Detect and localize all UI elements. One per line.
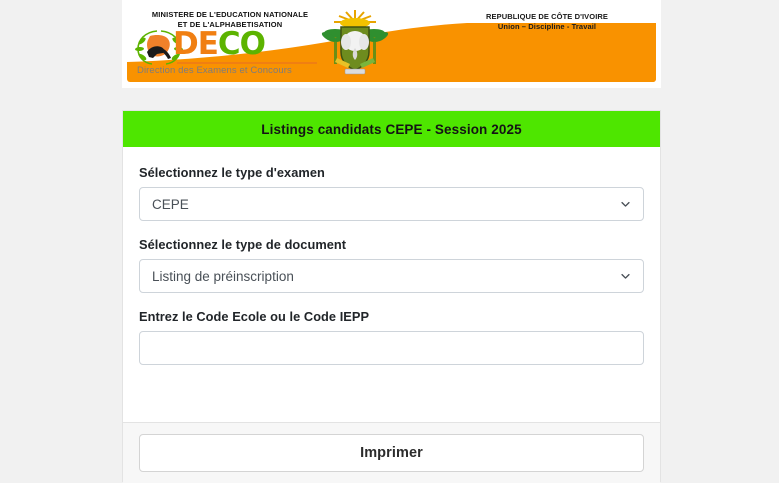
deco-acronym-co: CO <box>218 26 265 62</box>
header-banner-image: MINISTERE DE L'EDUCATION NATIONALE ET DE… <box>127 6 656 82</box>
listing-card: Listings candidats CEPE - Session 2025 S… <box>122 110 661 482</box>
deco-tagline: Direction des Examens et Concours <box>137 65 292 76</box>
republic-motto-line1: REPUBLIQUE DE CÔTE D'IVOIRE <box>452 12 642 22</box>
code-input[interactable] <box>139 331 644 365</box>
card-title-bar: Listings candidats CEPE - Session 2025 <box>123 111 660 147</box>
page-root: MINISTERE DE L'EDUCATION NATIONALE ET DE… <box>0 0 779 480</box>
code-group: Entrez le Code Ecole ou le Code IEPP <box>139 309 644 365</box>
card-footer: Imprimer <box>123 422 660 483</box>
document-type-group: Sélectionnez le type de document Listing… <box>139 237 644 293</box>
document-type-label: Sélectionnez le type de document <box>139 237 644 252</box>
deco-logo: DECO Direction des Examens et Concours <box>135 28 331 78</box>
republic-motto-line2: Union – Discipline - Travail <box>452 22 642 32</box>
document-type-select-wrap: Listing de préinscription <box>139 259 644 293</box>
deco-acronym: DECO <box>173 26 265 62</box>
exam-type-label: Sélectionnez le type d'examen <box>139 165 644 180</box>
deco-underline <box>177 62 317 64</box>
code-label: Entrez le Code Ecole ou le Code IEPP <box>139 309 644 324</box>
republic-motto: REPUBLIQUE DE CÔTE D'IVOIRE Union – Disc… <box>452 12 642 32</box>
deco-acronym-de: DE <box>173 26 218 62</box>
coat-of-arms-icon <box>315 8 395 80</box>
exam-type-select-wrap: CEPE <box>139 187 644 221</box>
print-button[interactable]: Imprimer <box>139 434 644 472</box>
page-title: Listings candidats CEPE - Session 2025 <box>261 122 521 137</box>
exam-type-select[interactable]: CEPE <box>139 187 644 221</box>
listing-form: Sélectionnez le type d'examen CEPE Sélec… <box>123 147 660 421</box>
document-type-select[interactable]: Listing de préinscription <box>139 259 644 293</box>
site-header: MINISTERE DE L'EDUCATION NATIONALE ET DE… <box>122 0 661 88</box>
ministry-name-line1: MINISTERE DE L'EDUCATION NATIONALE <box>135 10 325 20</box>
exam-type-group: Sélectionnez le type d'examen CEPE <box>139 165 644 221</box>
